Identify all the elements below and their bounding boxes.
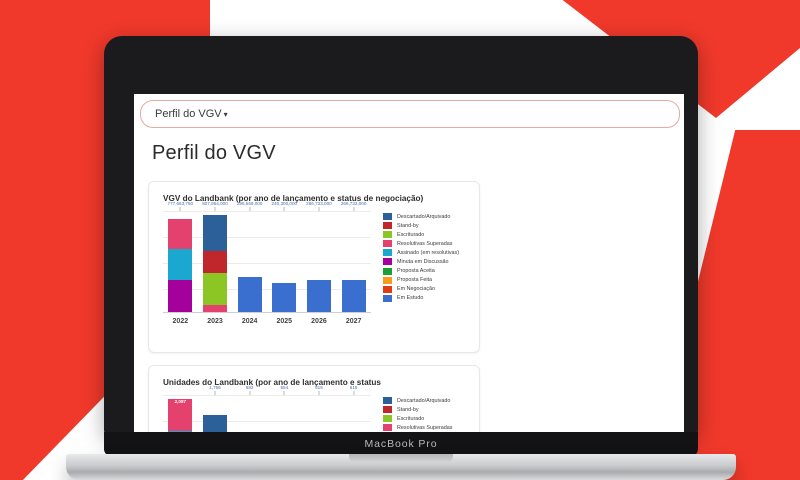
bar-value-label: 615 bbox=[315, 385, 323, 390]
legend-label: Escriturado bbox=[397, 232, 424, 238]
laptop-brand-label: MacBook Pro bbox=[365, 438, 438, 450]
bar-column[interactable]: 777,663,750 bbox=[168, 211, 192, 312]
bar-value-label: 266,733,000 bbox=[341, 201, 367, 206]
bar-column[interactable]: 266,733,000 bbox=[342, 211, 366, 312]
legend-swatch-icon bbox=[383, 258, 392, 265]
bar-segment[interactable] bbox=[307, 280, 331, 312]
legend-item[interactable]: Stand-by bbox=[383, 222, 467, 229]
x-axis-tick: 2022 bbox=[168, 318, 192, 325]
label-leader-line bbox=[318, 207, 319, 211]
legend-label: Resolutivas Superadas bbox=[397, 425, 452, 431]
chart-legend: Descartado/ArquivadoStand-byEscrituradoR… bbox=[371, 211, 467, 339]
legend-swatch-icon bbox=[383, 213, 392, 220]
bar-column[interactable]: 295,569,000 bbox=[238, 211, 262, 312]
x-axis-tick: 2025 bbox=[272, 318, 296, 325]
bar-group: 777,663,750807,954,000295,569,000240,300… bbox=[163, 211, 371, 312]
bar-value-label: 682 bbox=[246, 385, 254, 390]
bar-segment[interactable] bbox=[203, 273, 227, 305]
legend-label: Resolutivas Superadas bbox=[397, 241, 452, 247]
legend-swatch-icon bbox=[383, 222, 392, 229]
legend-item[interactable]: Assinado (em resolutivas) bbox=[383, 249, 467, 256]
bar-value-label: 777,663,750 bbox=[168, 201, 194, 206]
dashboard-app: Perfil do VGV ▾ Perfil do VGV VGV do Lan… bbox=[134, 100, 684, 456]
bar-value-label: 266,733,000 bbox=[306, 201, 332, 206]
laptop-lid: Perfil do VGV ▾ Perfil do VGV VGV do Lan… bbox=[104, 36, 698, 436]
legend-swatch-icon bbox=[383, 277, 392, 284]
label-leader-line bbox=[214, 207, 215, 211]
laptop-mockup: Perfil do VGV ▾ Perfil do VGV VGV do Lan… bbox=[96, 36, 706, 448]
top-tabbar: Perfil do VGV ▾ bbox=[140, 100, 680, 128]
legend-item[interactable]: Resolutivas Superadas bbox=[383, 424, 467, 431]
tab-label: Perfil do VGV bbox=[155, 108, 222, 120]
bar-segment[interactable] bbox=[168, 399, 192, 431]
laptop-screen: Perfil do VGV ▾ Perfil do VGV VGV do Lan… bbox=[134, 94, 684, 456]
legend-swatch-icon bbox=[383, 240, 392, 247]
x-axis-tick: 2026 bbox=[307, 318, 331, 325]
bar-segment[interactable] bbox=[272, 283, 296, 312]
legend-item[interactable]: Em Estudo bbox=[383, 295, 467, 302]
legend-item[interactable]: Proposta Feita bbox=[383, 277, 467, 284]
bar-value-label: 240,300,000 bbox=[272, 201, 298, 206]
laptop-notch bbox=[349, 454, 453, 463]
bar-segment[interactable] bbox=[168, 219, 192, 249]
legend-item[interactable]: Descartado/Arquivado bbox=[383, 213, 467, 220]
label-leader-line bbox=[214, 391, 215, 395]
bar-segment[interactable] bbox=[203, 215, 227, 251]
legend-swatch-icon bbox=[383, 424, 392, 431]
bar-value-label: 2,087 bbox=[175, 399, 187, 404]
x-axis-labels: 202220232024202520262027 bbox=[163, 314, 371, 329]
legend-swatch-icon bbox=[383, 249, 392, 256]
legend-item[interactable]: Escriturado bbox=[383, 231, 467, 238]
x-axis-tick: 2023 bbox=[203, 318, 227, 325]
legend-label: Stand-by bbox=[397, 223, 419, 229]
label-leader-line bbox=[284, 391, 285, 395]
bar-segment[interactable] bbox=[238, 277, 262, 312]
bar-segment[interactable] bbox=[203, 251, 227, 273]
legend-label: Proposta Feita bbox=[397, 277, 432, 283]
chart-body: 777,663,750807,954,000295,569,000240,300… bbox=[163, 211, 467, 339]
legend-label: Assinado (em resolutivas) bbox=[397, 250, 459, 256]
legend-label: Em Estudo bbox=[397, 295, 423, 301]
legend-item[interactable]: Minuta em Discussão bbox=[383, 258, 467, 265]
legend-label: Minuta em Discussão bbox=[397, 259, 449, 265]
label-leader-line bbox=[318, 391, 319, 395]
x-axis-tick: 2024 bbox=[238, 318, 262, 325]
legend-item[interactable]: Escriturado bbox=[383, 415, 467, 422]
legend-label: Stand-by bbox=[397, 407, 419, 413]
chart-card-vgv-status: VGV do Landbank (por ano de lançamento e… bbox=[148, 181, 480, 353]
legend-item[interactable]: Descartado/Arquivado bbox=[383, 397, 467, 404]
charts-grid: VGV do Landbank (por ano de lançamento e… bbox=[134, 181, 684, 456]
legend-swatch-icon bbox=[383, 415, 392, 422]
legend-swatch-icon bbox=[383, 295, 392, 302]
legend-item[interactable]: Em Negociação bbox=[383, 286, 467, 293]
legend-swatch-icon bbox=[383, 286, 392, 293]
bar-column[interactable]: 807,954,000 bbox=[203, 211, 227, 312]
legend-label: Proposta Aceita bbox=[397, 268, 435, 274]
x-axis-line bbox=[163, 312, 371, 313]
legend-label: Escriturado bbox=[397, 416, 424, 422]
legend-swatch-icon bbox=[383, 397, 392, 404]
label-leader-line bbox=[284, 207, 285, 211]
legend-item[interactable]: Resolutivas Superadas bbox=[383, 240, 467, 247]
bar-value-label: 554 bbox=[280, 385, 288, 390]
bar-value-label: 1,756 bbox=[209, 385, 221, 390]
bar-value-label: 295,569,000 bbox=[237, 201, 263, 206]
label-leader-line bbox=[353, 391, 354, 395]
chevron-down-icon: ▾ bbox=[224, 110, 228, 119]
bar-column[interactable]: 240,300,000 bbox=[272, 211, 296, 312]
legend-swatch-icon bbox=[383, 268, 392, 275]
tab-perfil-do-vgv[interactable]: Perfil do VGV ▾ bbox=[141, 108, 238, 120]
legend-item[interactable]: Proposta Aceita bbox=[383, 268, 467, 275]
bar-column[interactable]: 266,733,000 bbox=[307, 211, 331, 312]
legend-label: Em Negociação bbox=[397, 286, 435, 292]
bar-value-label: 615 bbox=[350, 385, 358, 390]
label-leader-line bbox=[353, 207, 354, 211]
legend-swatch-icon bbox=[383, 231, 392, 238]
legend-label: Descartado/Arquivado bbox=[397, 214, 450, 220]
x-axis-tick: 2027 bbox=[342, 318, 366, 325]
bar-segment[interactable] bbox=[168, 280, 192, 312]
legend-item[interactable]: Stand-by bbox=[383, 406, 467, 413]
bar-segment[interactable] bbox=[342, 280, 366, 312]
label-leader-line bbox=[249, 207, 250, 211]
plot-area: 777,663,750807,954,000295,569,000240,300… bbox=[163, 211, 371, 329]
legend-label: Descartado/Arquivado bbox=[397, 398, 450, 404]
bar-segment[interactable] bbox=[203, 305, 227, 312]
laptop-chin: MacBook Pro bbox=[104, 432, 698, 456]
label-leader-line bbox=[249, 391, 250, 395]
label-leader-line bbox=[180, 207, 181, 211]
legend-swatch-icon bbox=[383, 406, 392, 413]
bar-value-label: 807,954,000 bbox=[202, 201, 228, 206]
page-title: Perfil do VGV bbox=[134, 128, 684, 165]
bar-segment[interactable] bbox=[168, 249, 192, 281]
